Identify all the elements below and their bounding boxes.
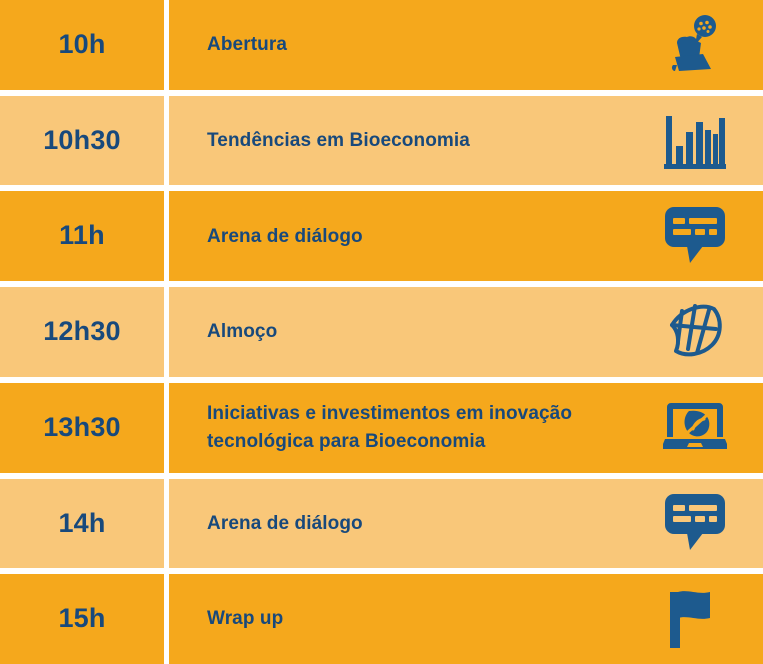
content-cell: Wrap up	[169, 574, 763, 664]
content-cell: Arena de diálogo	[169, 191, 763, 281]
content-cell: Tendências em Bioeconomia	[169, 96, 763, 186]
content-cell: Iniciativas e investimentos em inovação …	[169, 383, 763, 473]
time-cell: 14h	[0, 479, 164, 569]
schedule-row: 12h30 Almoço	[0, 287, 763, 377]
time-label: 15h	[58, 604, 105, 634]
session-title: Abertura	[207, 31, 287, 59]
session-title: Tendências em Bioeconomia	[207, 127, 470, 155]
time-cell: 12h30	[0, 287, 164, 377]
time-cell: 11h	[0, 191, 164, 281]
session-title: Iniciativas e investimentos em inovação …	[207, 400, 637, 455]
time-label: 14h	[58, 509, 105, 539]
schedule-row: 10h Abertura	[0, 0, 763, 90]
bar-chart-icon	[659, 105, 731, 177]
time-label: 10h	[58, 30, 105, 60]
time-cell: 10h30	[0, 96, 164, 186]
flag-icon	[659, 583, 731, 655]
laptop-leaf-icon	[659, 392, 731, 464]
session-title: Almoço	[207, 318, 277, 346]
time-label: 13h30	[43, 413, 121, 443]
schedule-table: 10h Abertura	[0, 0, 763, 664]
time-label: 10h30	[43, 126, 121, 156]
content-cell: Arena de diálogo	[169, 479, 763, 569]
session-title: Arena de diálogo	[207, 510, 363, 538]
schedule-row: 14h Arena de diálogo	[0, 479, 763, 569]
content-cell: Almoço	[169, 287, 763, 377]
time-cell: 15h	[0, 574, 164, 664]
schedule-row: 15h Wrap up	[0, 574, 763, 664]
time-cell: 13h30	[0, 383, 164, 473]
session-title: Wrap up	[207, 605, 283, 633]
schedule-row: 11h Arena de diálogo	[0, 191, 763, 281]
podium-microphone-icon	[659, 9, 731, 81]
content-cell: Abertura	[169, 0, 763, 90]
time-cell: 10h	[0, 0, 164, 90]
schedule-row: 10h30 Tendências em Bioeconomia	[0, 96, 763, 186]
speech-bubble-icon	[659, 200, 731, 272]
schedule-row: 13h30 Iniciativas e investimentos em ino…	[0, 383, 763, 473]
time-label: 11h	[59, 221, 105, 251]
croissant-icon	[659, 296, 731, 368]
time-label: 12h30	[43, 317, 121, 347]
speech-bubble-icon	[659, 487, 731, 559]
session-title: Arena de diálogo	[207, 223, 363, 251]
